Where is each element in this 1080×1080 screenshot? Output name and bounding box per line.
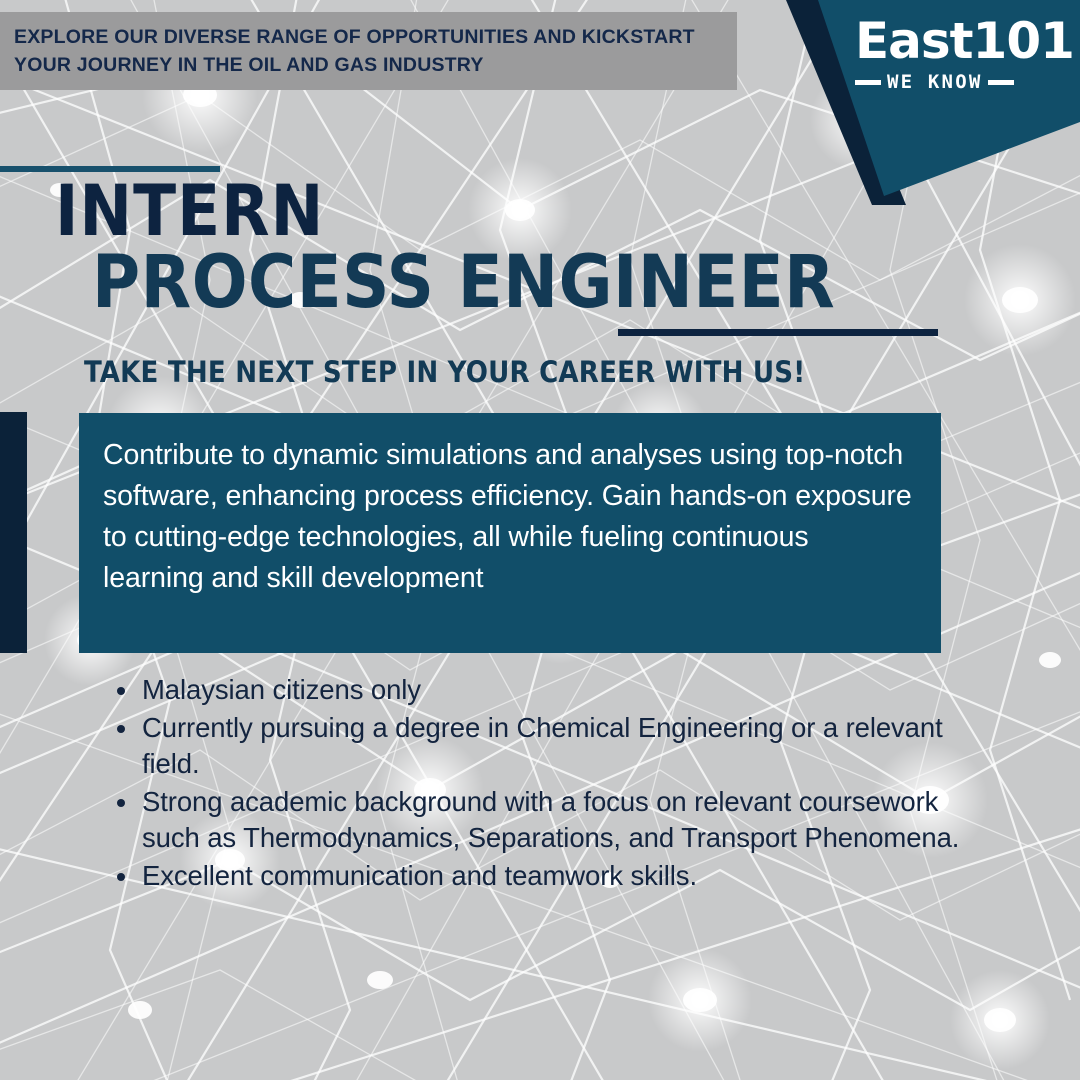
list-item: Currently pursuing a degree in Chemical … xyxy=(110,710,1000,782)
list-item: Strong academic background with a focus … xyxy=(110,784,1000,856)
description-text: Contribute to dynamic simulations and an… xyxy=(103,435,915,599)
requirements-list: Malaysian citizens only Currently pursui… xyxy=(110,672,1000,896)
job-title-line-2: PROCESS ENGINEER xyxy=(92,246,835,319)
logo-tagline-row: WE KNOW xyxy=(855,71,1055,93)
title-rule-bottom xyxy=(618,329,938,336)
headline-banner-text: EXPLORE OUR DIVERSE RANGE OF OPPORTUNITI… xyxy=(0,23,695,80)
description-panel: Contribute to dynamic simulations and an… xyxy=(79,413,941,653)
list-item: Excellent communication and teamwork ski… xyxy=(110,858,1000,894)
headline-banner-line-1: EXPLORE OUR DIVERSE RANGE OF OPPORTUNITI… xyxy=(14,23,695,51)
description-accent-bar xyxy=(0,412,27,653)
headline-banner: EXPLORE OUR DIVERSE RANGE OF OPPORTUNITI… xyxy=(0,12,737,90)
job-subtitle: TAKE THE NEXT STEP IN YOUR CAREER WITH U… xyxy=(84,355,805,389)
job-title-line-1: INTERN xyxy=(55,176,324,246)
logo-wordmark: East101 xyxy=(855,16,1055,66)
brand-logo[interactable]: East101 WE KNOW xyxy=(855,16,1055,93)
headline-banner-line-2: YOUR JOURNEY IN THE OIL AND GAS INDUSTRY xyxy=(14,51,695,79)
poster-canvas: East101 WE KNOW EXPLORE OUR DIVERSE RANG… xyxy=(0,0,1080,1080)
logo-dash-left xyxy=(855,80,881,85)
logo-dash-right xyxy=(988,80,1014,85)
list-item: Malaysian citizens only xyxy=(110,672,1000,708)
logo-tagline: WE KNOW xyxy=(887,71,982,93)
